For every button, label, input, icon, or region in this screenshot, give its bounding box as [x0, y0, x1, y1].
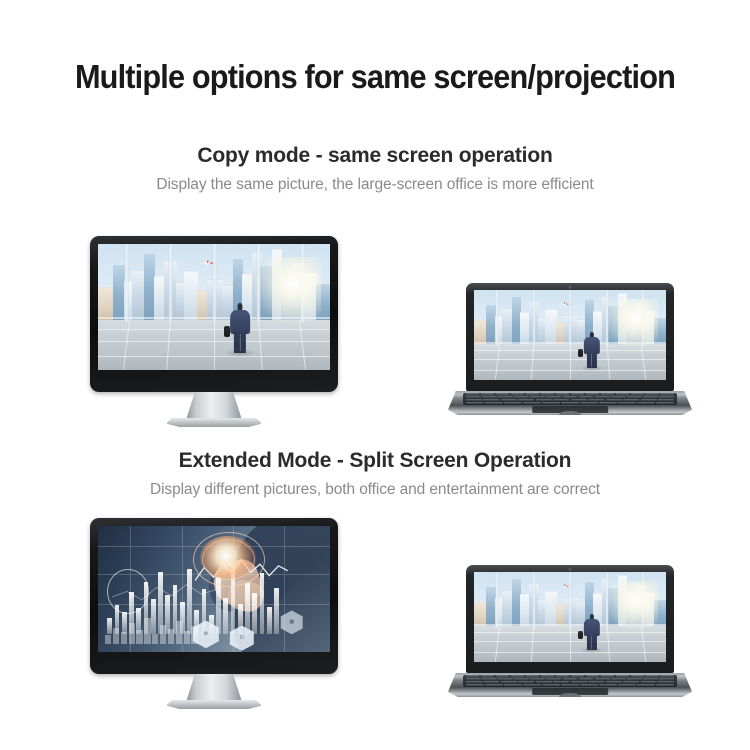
window-mullion: [641, 290, 645, 346]
figure-legs: [587, 353, 597, 367]
businessman-figure: [583, 332, 599, 368]
monitor-bezel: ⚙ ⏻ ▦: [90, 518, 338, 674]
monitor-stand-base: [166, 418, 262, 427]
glowing-touch-point[interactable]: [200, 536, 256, 579]
bar-chart-secondary: [105, 614, 198, 644]
laptop-lid-notch: [559, 693, 581, 697]
monitor-stand-neck: [186, 392, 242, 420]
section-description-copy-mode: Display the same picture, the large-scre…: [0, 175, 750, 195]
window-mullion: [212, 244, 217, 322]
briefcase-icon: [578, 349, 584, 357]
businessman-figure: [583, 614, 599, 650]
laptop-keyboard[interactable]: [463, 675, 678, 687]
city-skyline-scene: [474, 572, 666, 662]
city-skyline-scene: [98, 244, 330, 370]
desktop-monitor-extended-mode: ⚙ ⏻ ▦: [90, 518, 338, 700]
laptop-keyboard-base[interactable]: [448, 673, 692, 697]
figure-suit: [230, 310, 250, 334]
briefcase-icon: [578, 631, 584, 639]
laptop-screen-copy-mode[interactable]: [474, 290, 666, 380]
laptop-keyboard-base[interactable]: [448, 391, 692, 415]
monitor-bezel: [90, 236, 338, 392]
figure-suit: [583, 337, 599, 354]
monitor-screen-extended-mode[interactable]: ⚙ ⏻ ▦: [98, 526, 330, 652]
figure-legs: [587, 635, 597, 649]
desktop-monitor-copy-mode: [90, 236, 338, 418]
figure-legs: [234, 332, 246, 352]
section-heading-extended-mode: Extended Mode - Split Screen Operation: [0, 448, 750, 474]
briefcase-icon: [224, 326, 231, 337]
window-mullion: [568, 290, 572, 346]
figure-suit: [583, 619, 599, 636]
window-mullion: [532, 290, 536, 346]
window-mullion: [641, 572, 645, 628]
monitor-screen-copy-mode[interactable]: [98, 244, 330, 370]
laptop-lid-notch: [559, 411, 581, 415]
monitor-stand-neck: [186, 674, 242, 702]
data-analytics-scene: ⚙ ⏻ ▦: [98, 526, 330, 652]
laptop-screen-extended-mode[interactable]: [474, 572, 666, 662]
plaza-floor: [474, 626, 666, 662]
airplane-icon: [551, 584, 576, 589]
window-mullion: [495, 572, 499, 628]
laptop-keyboard[interactable]: [463, 393, 678, 405]
line-graph-secondary: [112, 579, 219, 607]
window-mullion: [495, 290, 499, 346]
section-heading-copy-mode: Copy mode - same screen operation: [0, 143, 750, 169]
airplane-icon: [191, 260, 221, 266]
laptop-computer-extended-mode: [448, 565, 692, 697]
laptop-lid: [466, 565, 674, 673]
city-skyline-scene: [474, 290, 666, 380]
laptop-lid: [466, 283, 674, 391]
plaza-floor: [98, 320, 330, 370]
webcam-icon: [569, 568, 572, 571]
page-title: Multiple options for same screen/project…: [26, 57, 724, 97]
plaza-floor: [474, 344, 666, 380]
window-mullion: [532, 572, 536, 628]
webcam-icon: [569, 286, 572, 289]
businessman-figure: [230, 303, 250, 353]
window-mullion: [168, 244, 173, 322]
laptop-computer-copy-mode: [448, 283, 692, 415]
window-mullion: [568, 572, 572, 628]
monitor-stand-base: [166, 700, 262, 709]
window-mullion: [256, 244, 261, 322]
window-mullion: [300, 244, 305, 322]
window-mullion: [605, 572, 609, 628]
window-mullion: [124, 244, 129, 322]
airplane-icon: [551, 302, 576, 307]
window-mullion: [605, 290, 609, 346]
section-description-extended-mode: Display different pictures, both office …: [0, 480, 750, 500]
